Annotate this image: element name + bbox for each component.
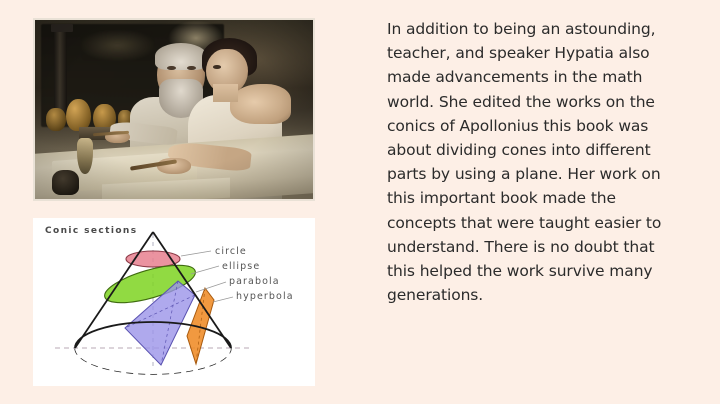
slide-canvas: Conic sections — [0, 0, 720, 404]
slide-body-paragraph: In addition to being an astounding, teac… — [387, 17, 687, 307]
leader-line-hyperbola — [213, 297, 233, 302]
leader-line-parabola — [196, 282, 226, 292]
conic-label-parabola: parabola — [229, 276, 280, 287]
conic-cone-graphic — [33, 218, 315, 386]
conic-label-ellipse: ellipse — [222, 261, 260, 272]
hypatia-photo-frame — [33, 18, 315, 201]
leader-line-circle — [181, 251, 211, 256]
photo-vignette — [35, 20, 313, 199]
conic-label-hyperbola: hyperbola — [236, 291, 294, 302]
conic-label-circle: circle — [215, 246, 247, 257]
conic-sections-diagram: Conic sections — [33, 218, 315, 386]
hypatia-photo — [35, 20, 313, 199]
